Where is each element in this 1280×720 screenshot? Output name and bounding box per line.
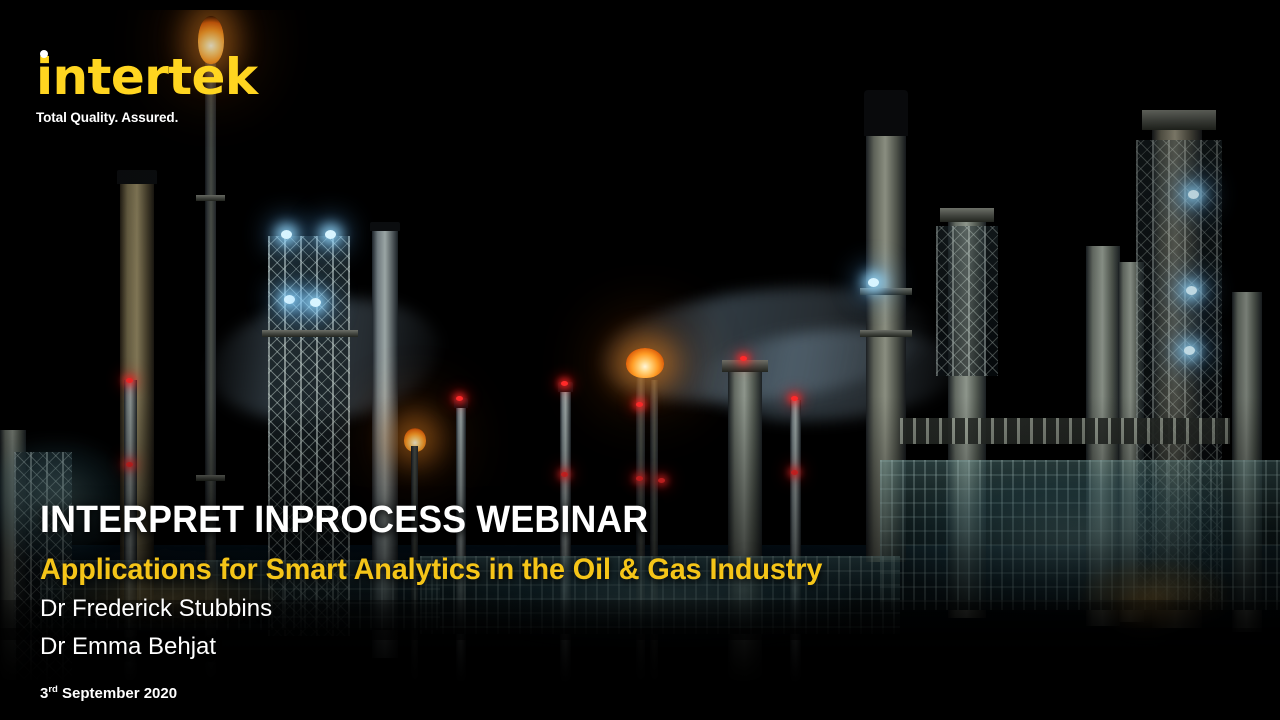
letterbox-bar-bottom [0,716,1280,720]
smokestack-main-cap [864,90,908,136]
warning-light-slim-3-low [791,470,798,475]
presenter-name-1: Dr Frederick Stubbins [40,593,1140,625]
warning-light-left-lower [126,462,133,467]
flare-flame-center [626,348,664,378]
webinar-title-slide: intertek Total Quality. Assured. INTERPR… [0,0,1280,720]
presentation-date: 3rd September 2020 [40,685,1140,702]
warning-light-left-upper [126,378,133,383]
column-cluster-a-frame [936,226,998,376]
page-subtitle: Applications for Smart Analytics in the … [40,553,1096,586]
warning-light-slim-2-top [561,381,568,386]
floodlight-d [310,298,321,307]
smokestack-band-upper [860,288,912,295]
pipe-bridge [900,418,1230,444]
floodlight-c [284,295,295,304]
intertek-logo: intertek Total Quality. Assured. [36,52,257,125]
letterbox-bar-top [0,0,1280,10]
title-block: INTERPRET INPROCESS WEBINAR Applications… [40,500,1140,702]
warning-light-slim-1 [456,396,463,401]
logo-tagline: Total Quality. Assured. [36,110,257,125]
warning-light-column-cr [740,356,747,361]
logo-wordmark: intertek [36,52,257,102]
floodlight-smokestack [868,278,879,287]
date-rest: September 2020 [58,685,177,702]
warning-light-center-c [658,478,665,483]
distillation-tower-head [1142,110,1216,130]
floodlight-right-b [1186,286,1197,295]
lattice-platform [262,330,358,337]
page-title: INTERPRET INPROCESS WEBINAR [40,500,1074,541]
warning-light-slim-2-mid [561,472,568,477]
floodlight-a [281,230,292,239]
logo-i-dot-icon [40,50,48,58]
column-center-right-head [722,360,768,372]
smokestack-band-lower [860,330,912,337]
column-pale-left-cap [370,222,400,231]
logo-wordmark-text: intertek [36,48,257,106]
warning-light-slim-3 [791,396,798,401]
date-ordinal: rd [48,684,58,695]
floodlight-b [325,230,336,239]
floodlight-right-a [1188,190,1199,199]
chimney-tan-cap [117,170,157,184]
mast-platform-upper [196,195,225,201]
warning-light-center-b [636,476,643,481]
column-cluster-a-head [940,208,994,222]
warning-light-center-a [636,402,643,407]
mast-platform-lower [196,475,225,481]
floodlight-right-c [1184,346,1195,355]
presenter-name-2: Dr Emma Behjat [40,631,1140,663]
